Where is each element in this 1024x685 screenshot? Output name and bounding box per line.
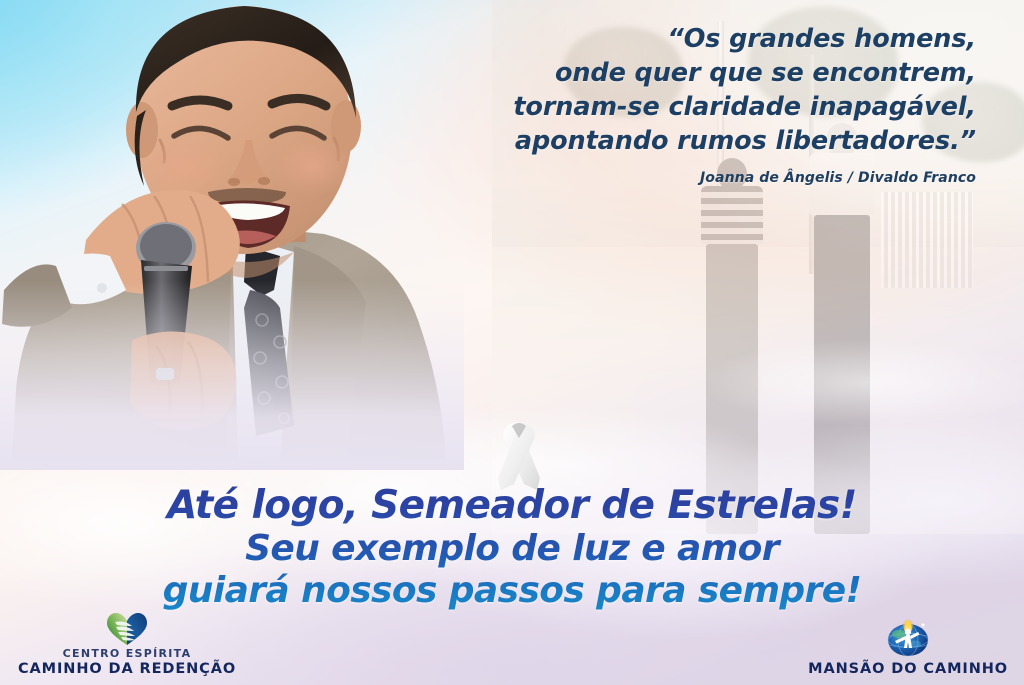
logo-mansao-do-caminho-line-1: MANSÃO DO CAMINHO bbox=[808, 661, 1008, 677]
headline-line-1: Até logo, Semeador de Estrelas! bbox=[0, 484, 1024, 528]
quote-line-2: onde quer que se encontrem, bbox=[416, 56, 976, 90]
quote-line-3: tornam-se claridade inapagável, bbox=[416, 90, 976, 124]
mourning-ribbon-icon bbox=[482, 408, 556, 492]
quote-line-1: “Os grandes homens, bbox=[416, 22, 976, 56]
quote-attribution: Joanna de Ângelis / Divaldo Franco bbox=[416, 170, 976, 186]
centro-espirita-heart-hands-icon bbox=[105, 612, 149, 646]
portrait-photo bbox=[0, 0, 464, 460]
headline-line-2: Seu exemplo de luz e amor bbox=[0, 528, 1024, 570]
headline-line-3: guiará nossos passos para sempre! bbox=[0, 570, 1024, 612]
mansao-do-caminho-globe-icon bbox=[885, 617, 931, 659]
logo-centro-espirita: CENTRO ESPÍRITA CAMINHO DA REDENÇÃO bbox=[18, 612, 236, 677]
logo-mansao-do-caminho-text: MANSÃO DO CAMINHO bbox=[808, 661, 1008, 677]
logo-centro-espirita-line-1: CENTRO ESPÍRITA bbox=[18, 648, 236, 660]
memorial-headline: Até logo, Semeador de Estrelas! Seu exem… bbox=[0, 484, 1024, 612]
logo-centro-espirita-line-2: CAMINHO DA REDENÇÃO bbox=[18, 661, 236, 677]
quote-line-4: apontando rumos libertadores.” bbox=[416, 124, 976, 158]
logo-mansao-do-caminho: MANSÃO DO CAMINHO bbox=[808, 617, 1008, 677]
memorial-poster: “Os grandes homens, onde quer que se enc… bbox=[0, 0, 1024, 685]
logo-centro-espirita-text: CENTRO ESPÍRITA CAMINHO DA REDENÇÃO bbox=[18, 648, 236, 677]
quote-block: “Os grandes homens, onde quer que se enc… bbox=[416, 22, 976, 186]
